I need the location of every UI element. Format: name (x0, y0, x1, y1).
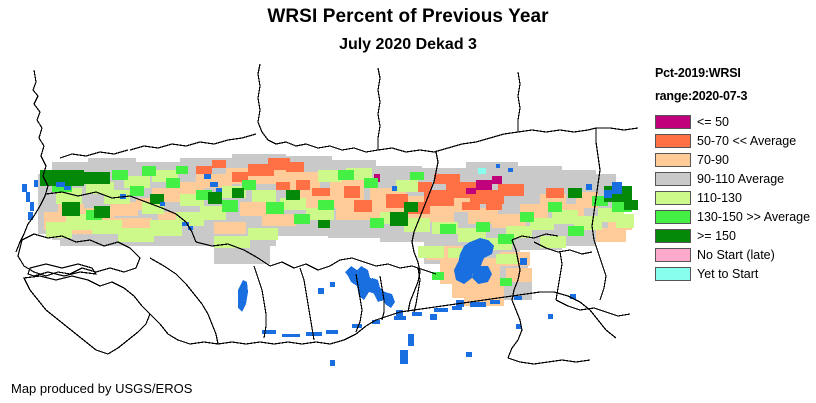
map-canvas[interactable] (0, 62, 648, 372)
legend-item-label: 130-150 >> Average (697, 210, 810, 224)
legend-item[interactable]: 130-150 >> Average (655, 207, 816, 226)
legend-swatch-icon (655, 210, 691, 224)
map-credit: Map produced by USGS/EROS (11, 381, 192, 396)
legend-item[interactable]: 50-70 << Average (655, 131, 816, 150)
legend-item[interactable]: 90-110 Average (655, 169, 816, 188)
legend-swatch-icon (655, 248, 691, 262)
legend-item[interactable]: 110-130 (655, 188, 816, 207)
page-title: WRSI Percent of Previous Year (0, 6, 816, 28)
legend-item-label: 50-70 << Average (697, 134, 796, 148)
page-subtitle: July 2020 Dekad 3 (0, 36, 816, 54)
legend-swatch-icon (655, 172, 691, 186)
legend-item[interactable]: <= 50 (655, 112, 816, 131)
legend-swatch-icon (655, 153, 691, 167)
legend-rows: <= 50 50-70 << Average 70-90 90-110 Aver… (655, 112, 816, 283)
legend-item-label: 70-90 (697, 153, 729, 167)
legend-swatch-icon (655, 191, 691, 205)
map-svg[interactable] (0, 62, 648, 372)
legend-item[interactable]: Yet to Start (655, 264, 816, 283)
legend-item-label: <= 50 (697, 115, 729, 129)
legend-swatch-icon (655, 134, 691, 148)
legend-swatch-icon (655, 267, 691, 281)
legend-item-label: Yet to Start (697, 267, 758, 281)
legend-item[interactable]: No Start (late) (655, 245, 816, 264)
legend-item-label: 110-130 (697, 191, 742, 205)
class-yet-to-start (478, 168, 486, 174)
map-page: WRSI Percent of Previous Year July 2020 … (0, 0, 816, 403)
legend-swatch-icon (655, 229, 691, 243)
legend-item[interactable]: 70-90 (655, 150, 816, 169)
map-legend: Pct-2019:WRSI range:2020-07-3 <= 50 50-7… (649, 66, 816, 306)
legend-swatch-icon (655, 115, 691, 129)
legend-heading: Pct-2019:WRSI (655, 66, 816, 80)
legend-range-label: range:2020-07-3 (655, 89, 816, 103)
legend-item-label: >= 150 (697, 229, 736, 243)
legend-item-label: No Start (late) (697, 248, 775, 262)
legend-item[interactable]: >= 150 (655, 226, 816, 245)
legend-item-label: 90-110 Average (697, 172, 784, 186)
